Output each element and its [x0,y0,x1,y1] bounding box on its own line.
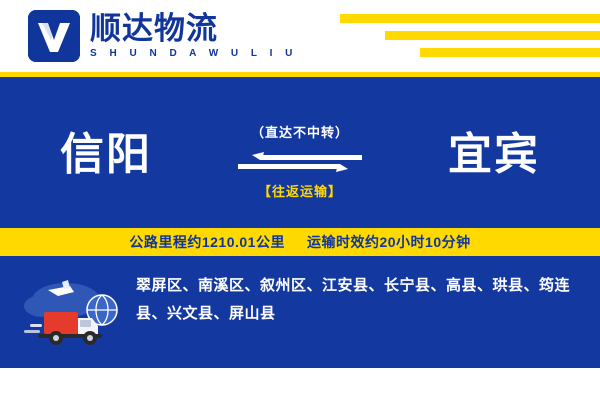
header-stripe-1 [340,14,600,23]
brand-text: 顺达物流 S H U N D A W U L I U [90,12,297,61]
route-middle: （直达不中转） 【往返运输】 [238,100,362,200]
distance-text: 公路里程约1210.01公里 [129,232,285,252]
logistics-route-poster: 顺达物流 S H U N D A W U L I U 信阳 （直达不中转） 【往… [0,0,600,400]
logistics-arrow-logo-icon [28,10,80,62]
route-note-top: （直达不中转） [238,122,362,141]
brand-name-cn: 顺达物流 [90,12,297,45]
double-arrow-icon [238,149,362,175]
header-stripe-2 [385,31,600,40]
stats-bar: 公路里程约1210.01公里 运输时效约20小时10分钟 [0,228,600,256]
header: 顺达物流 S H U N D A W U L I U [0,0,600,72]
coverage-areas-text: 翠屏区、南溪区、叙州区、江安县、长宁县、高县、珙县、筠连县、兴文县、屏山县 [136,272,576,328]
route-note-bottom: 【往返运输】 [238,181,362,200]
destination-city: 宜宾 [448,118,540,182]
route-section: 信阳 （直达不中转） 【往返运输】 宜宾 [0,100,600,210]
footer-strip [0,368,600,400]
coverage-section: 翠屏区、南溪区、叙州区、江安县、长宁县、高县、珙县、筠连县、兴文县、屏山县 [0,262,600,358]
top-yellow-rule [0,72,600,77]
origin-city: 信阳 [60,118,152,182]
header-stripe-3 [420,48,600,57]
delivery-truck-globe-plane-icon [18,270,126,350]
brand-name-en: S H U N D A W U L I U [90,47,297,61]
brand-logo: 顺达物流 S H U N D A W U L I U [28,10,297,62]
duration-text: 运输时效约20小时10分钟 [307,232,471,252]
